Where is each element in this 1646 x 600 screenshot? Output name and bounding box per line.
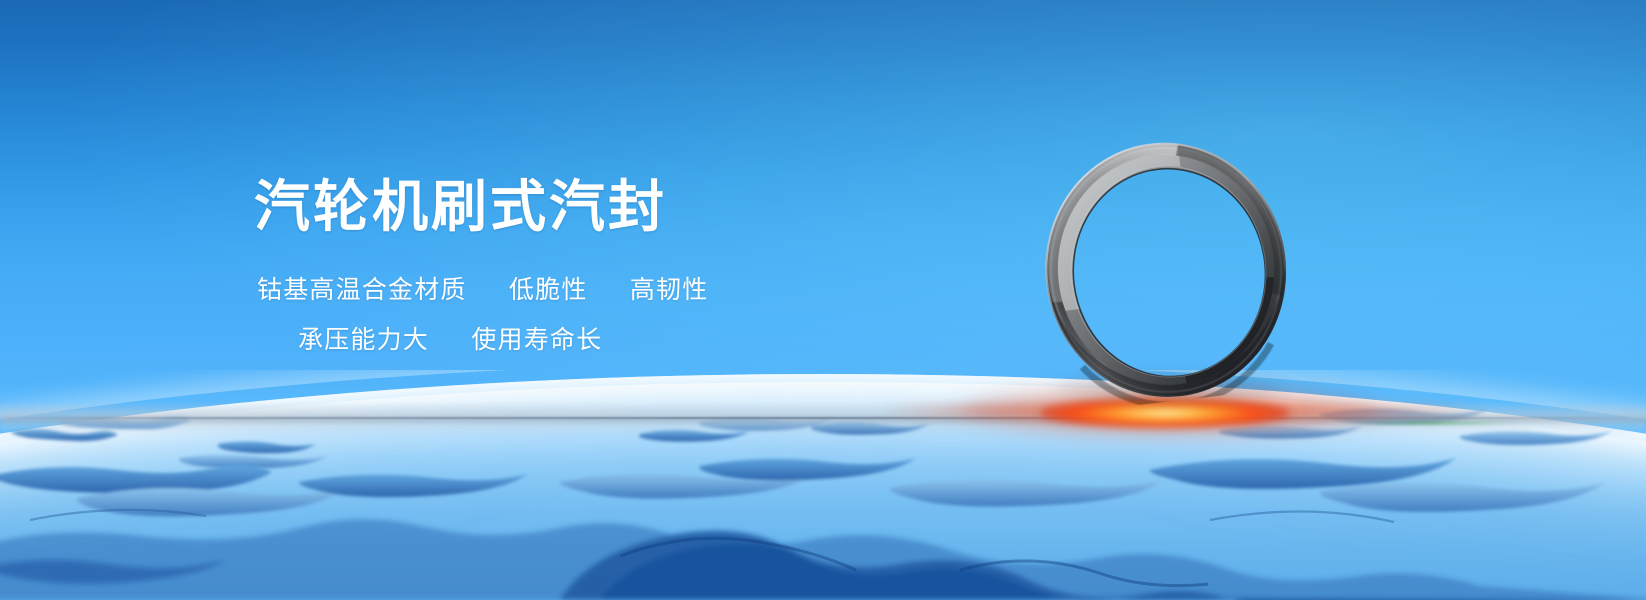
subtitle-feature-material: 钴基高温合金材质	[257, 276, 467, 304]
subtitle-line-1: 钴基高温合金材质 低脆性 高韧性	[257, 270, 708, 306]
hero-banner: 汽轮机刷式汽封 钴基高温合金材质 低脆性 高韧性 承压能力大 使用寿命长	[0, 0, 1646, 600]
page-title: 汽轮机刷式汽封	[254, 178, 667, 237]
horizon-green-tint	[1340, 421, 1520, 425]
subtitle-line-2: 承压能力大 使用寿命长	[298, 320, 602, 356]
subtitle-feature-service-life: 使用寿命长	[471, 326, 602, 354]
subtitle-feature-low-brittleness: 低脆性	[509, 276, 588, 304]
subtitle-feature-high-toughness: 高韧性	[630, 276, 709, 304]
product-ring-image	[1028, 126, 1304, 414]
subtitle-feature-pressure-capacity: 承压能力大	[298, 326, 429, 354]
